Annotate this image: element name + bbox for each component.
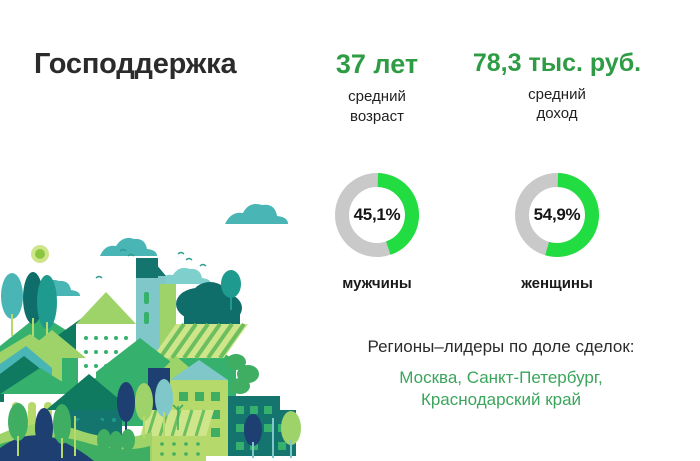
page-title: Господдержка	[34, 48, 236, 81]
stat-average-age-caption-line2: возраст	[292, 107, 462, 126]
donut-women-graphic: 54,9%	[512, 170, 602, 260]
cloud-icon-top-right	[225, 204, 288, 224]
cloud-icon-mid	[100, 238, 157, 256]
donut-men-graphic: 45,1%	[332, 170, 422, 260]
stat-average-age-caption: средний возраст	[292, 87, 462, 125]
tree-right-stick	[272, 418, 274, 458]
regions-list: Москва, Санкт-Петербург, Краснодарский к…	[312, 367, 690, 411]
donut-women-percent: 54,9%	[512, 170, 602, 260]
stat-average-income-caption-line1: средний	[472, 85, 642, 104]
stat-average-age-caption-line1: средний	[292, 87, 462, 106]
regions-heading: Регионы–лидеры по доле сделок:	[312, 336, 690, 358]
bush-bottom-center	[97, 429, 135, 453]
tree-teal-left	[1, 273, 23, 336]
eco-city-illustration	[0, 196, 312, 461]
donut-chart-men: 45,1% мужчины	[297, 170, 457, 292]
donut-men-percent: 45,1%	[332, 170, 422, 260]
regions-section: Регионы–лидеры по доле сделок: Москва, С…	[312, 336, 690, 411]
infographic-canvas: Господдержка 37 лет средний возраст 78,3…	[0, 0, 700, 461]
stat-average-age-value: 37 лет	[292, 50, 462, 78]
donut-women-label: женщины	[477, 275, 637, 292]
stat-average-income-caption-line2: доход	[472, 104, 642, 123]
sun-icon	[31, 245, 49, 263]
donut-chart-women: 54,9% женщины	[477, 170, 637, 292]
regions-list-line2: Краснодарский край	[312, 389, 690, 411]
stat-average-income-caption: средний доход	[472, 85, 642, 123]
regions-list-line1: Москва, Санкт-Петербург,	[312, 367, 690, 389]
stat-average-income-value: 78,3 тыс. руб.	[472, 50, 642, 76]
tree-fore-sapling	[74, 416, 76, 456]
stat-average-income: 78,3 тыс. руб. средний доход	[472, 50, 642, 124]
stat-average-age: 37 лет средний возраст	[292, 50, 462, 126]
donut-men-label: мужчины	[297, 275, 457, 292]
